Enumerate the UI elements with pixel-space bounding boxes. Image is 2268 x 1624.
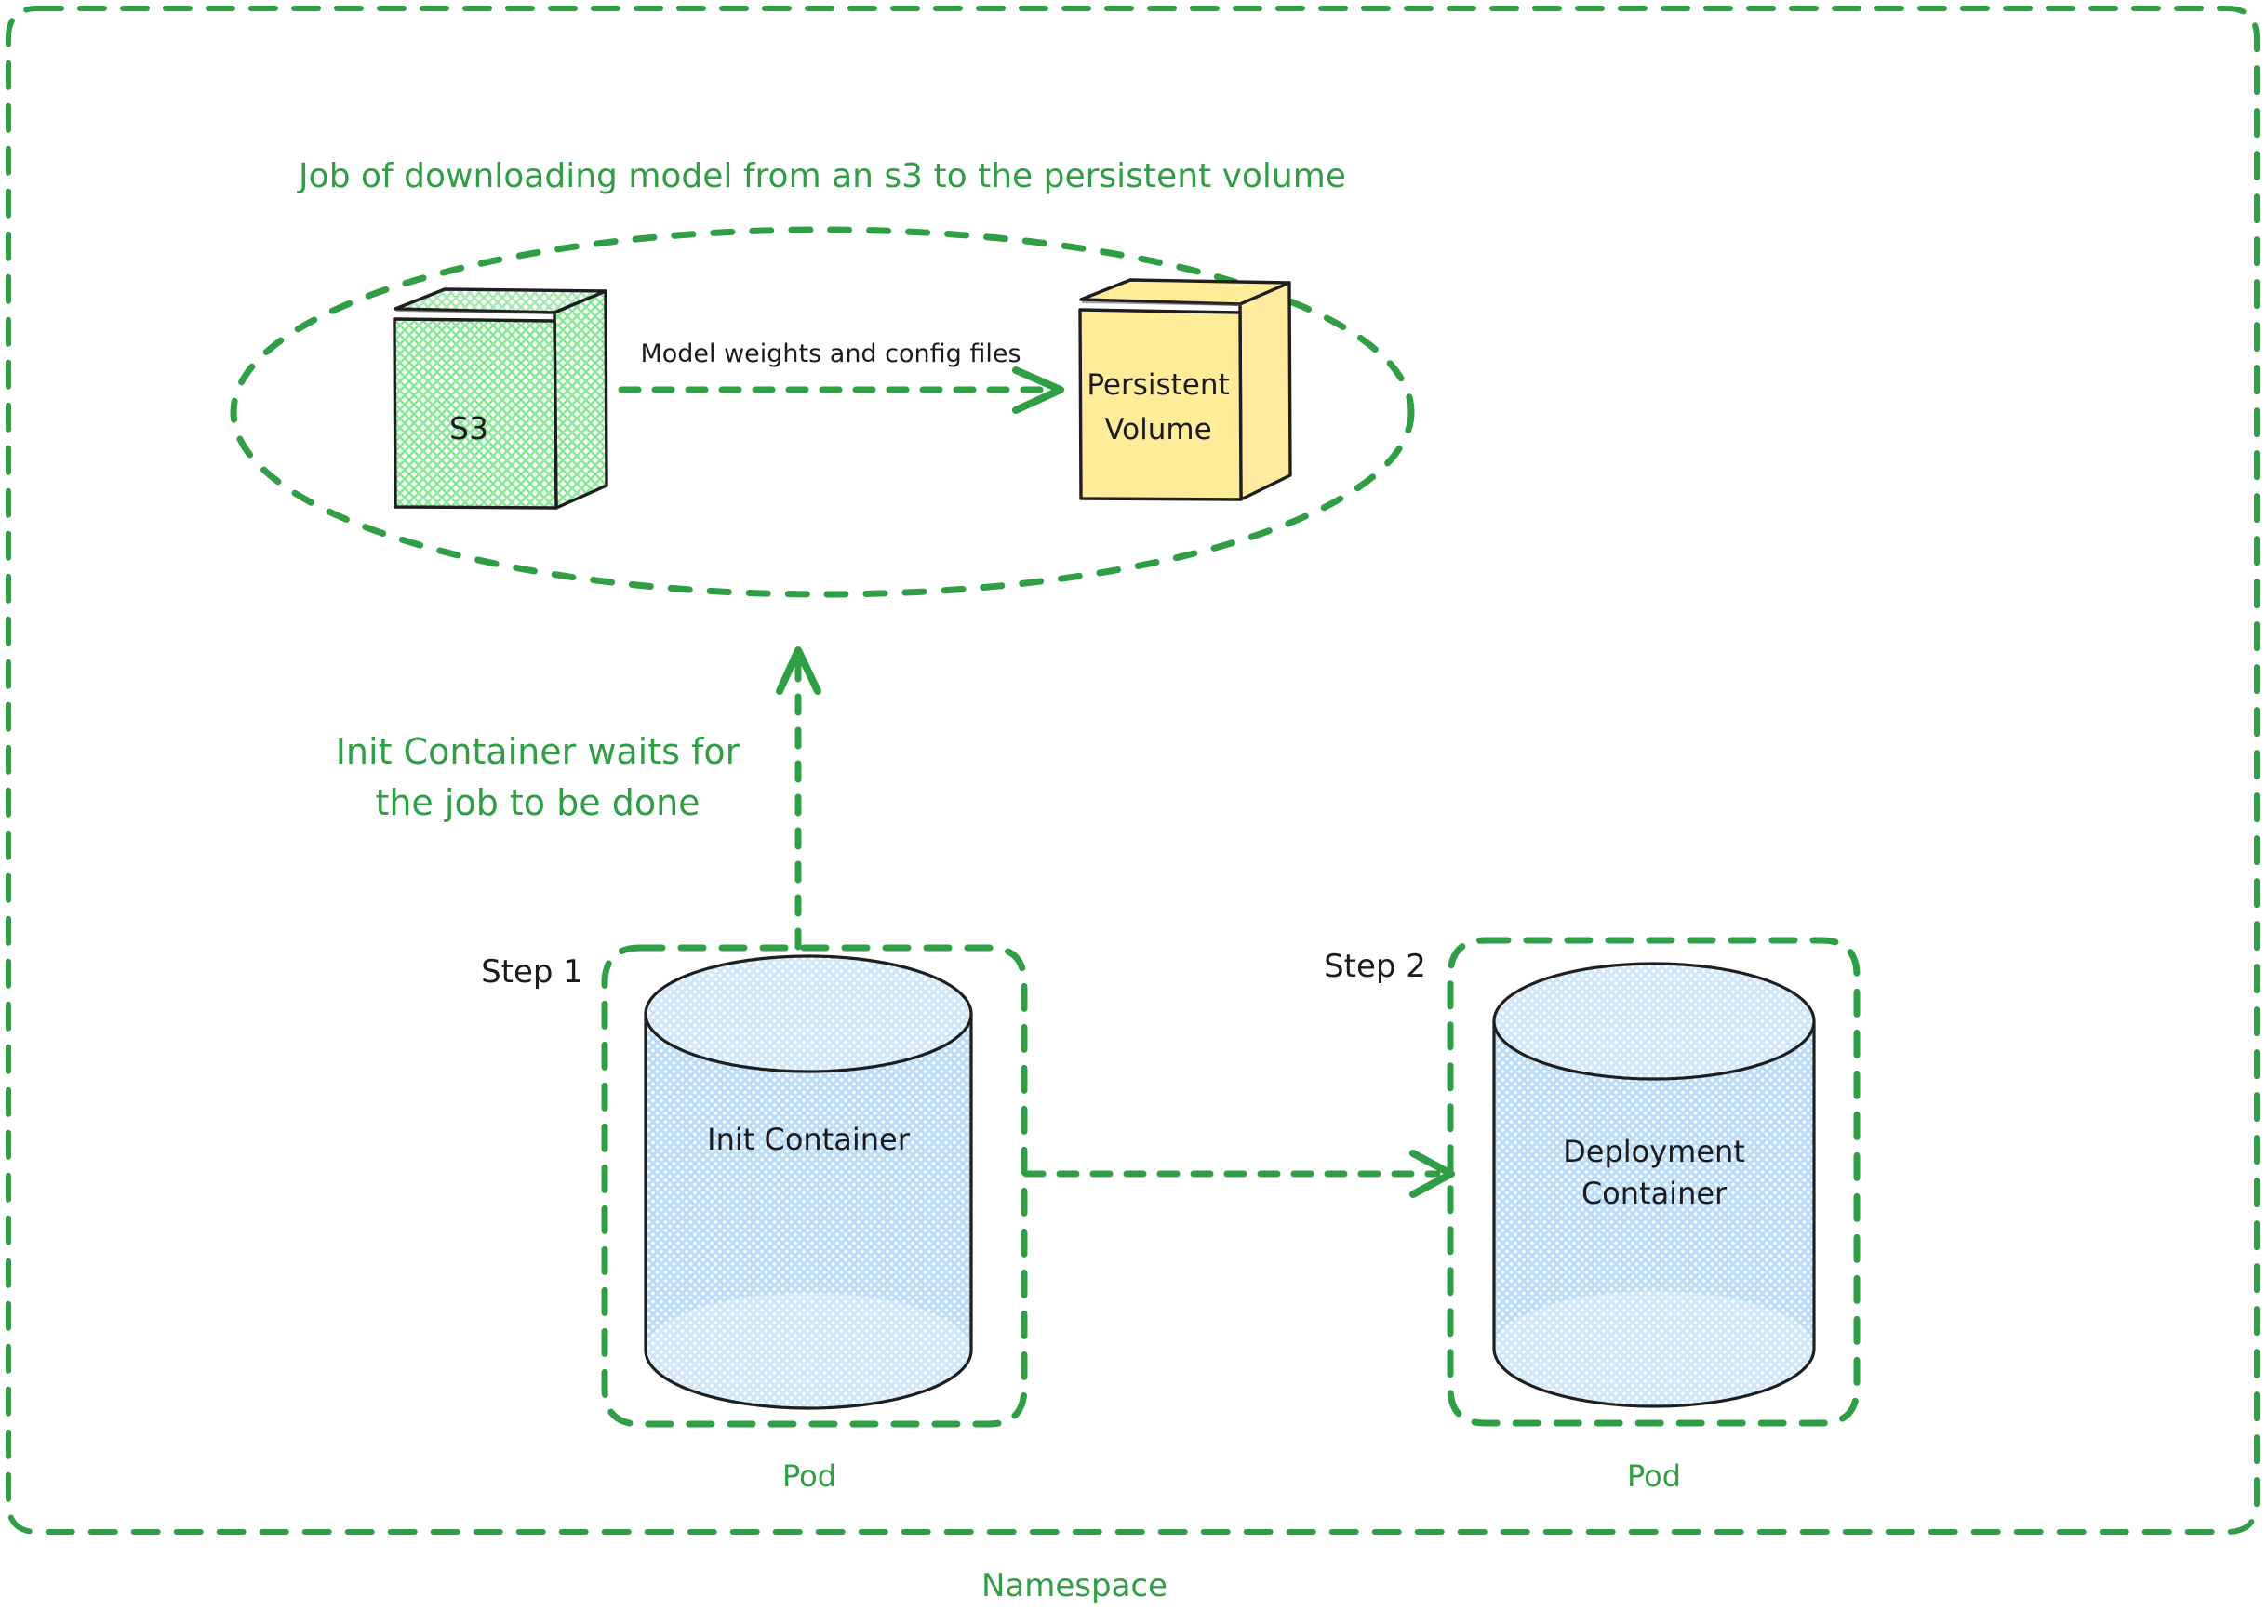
deployment-container-cylinder-shape: [1494, 964, 1814, 1406]
diagram-canvas: Job of downloading model from an s3 to t…: [0, 0, 2268, 1624]
diagram-vector-layer: [0, 0, 2268, 1624]
edge-s3-to-volume: [621, 370, 1061, 410]
s3-cube-shape: [394, 289, 607, 508]
edge-init-container-waits: [780, 650, 818, 947]
init-container-cylinder-shape: [646, 956, 971, 1408]
persistent-volume-cube-shape: [1080, 280, 1290, 499]
namespace-boundary: [8, 8, 2257, 1532]
edge-pod1-to-pod2: [1026, 1153, 1451, 1194]
